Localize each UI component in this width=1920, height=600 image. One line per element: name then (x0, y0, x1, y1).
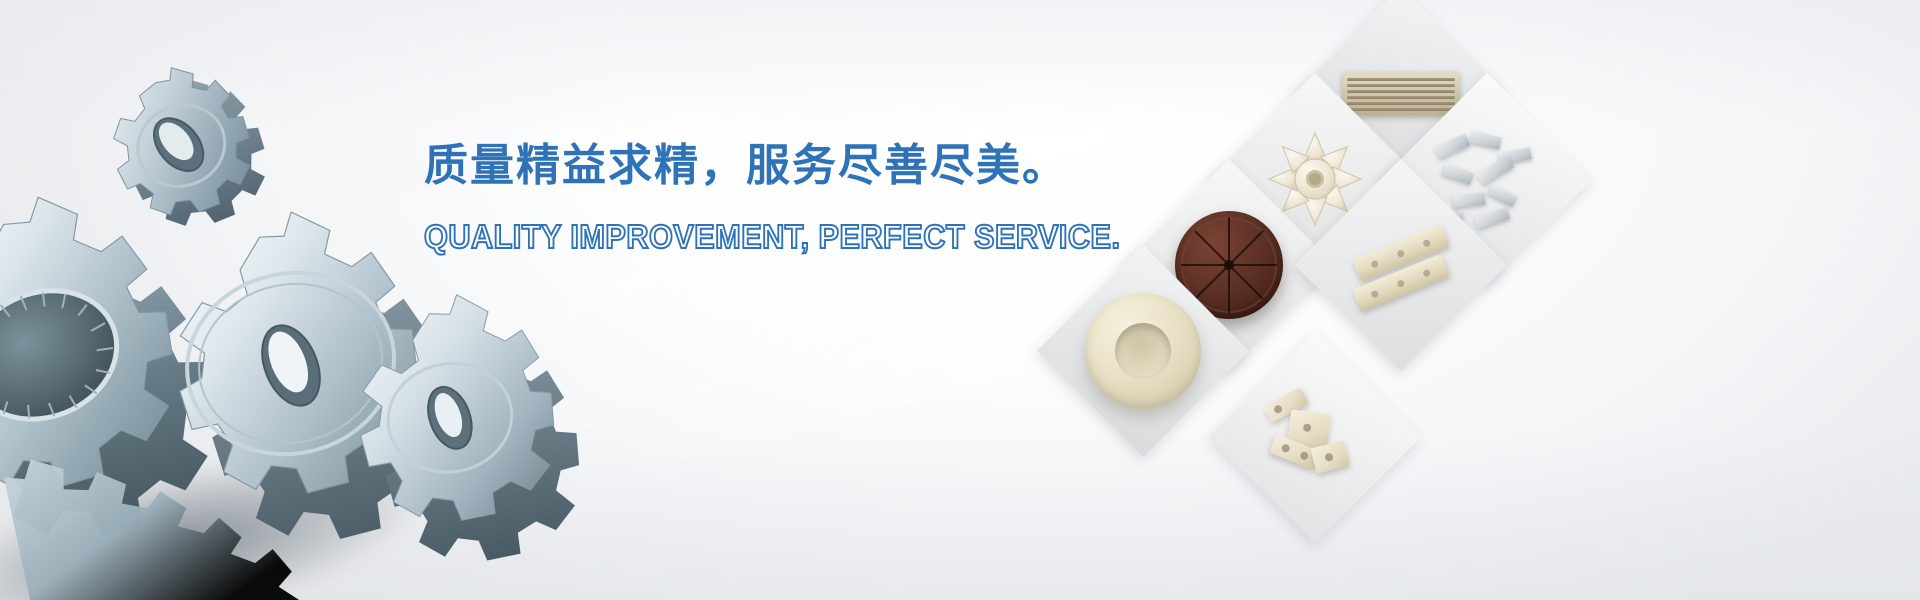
tile-content (1240, 362, 1390, 512)
gear-icon (0, 400, 400, 600)
banner-copy: 质量精益求精，服务尽善尽美。 QUALITY IMPROVEMENT, PERF… (424, 140, 1064, 255)
ring-bushing-product-image (1085, 293, 1201, 409)
l-brackets-product-image (1255, 382, 1375, 492)
slotted-bars-product-image (1341, 215, 1461, 315)
product-tiles-collage (1120, 0, 1920, 600)
product-tile-brackets (1209, 331, 1421, 543)
page-title: 质量精益求精，服务尽善尽美。 (424, 140, 1064, 193)
tile-content (1326, 190, 1476, 340)
tile-content (1068, 276, 1218, 426)
hero-banner: 质量精益求精，服务尽善尽美。 QUALITY IMPROVEMENT, PERF… (0, 0, 1920, 600)
page-subtitle: QUALITY IMPROVEMENT, PERFECT SERVICE. (424, 219, 1019, 255)
louvre-grille-product-image (1342, 71, 1460, 115)
gear-cluster-graphic (0, 40, 610, 600)
